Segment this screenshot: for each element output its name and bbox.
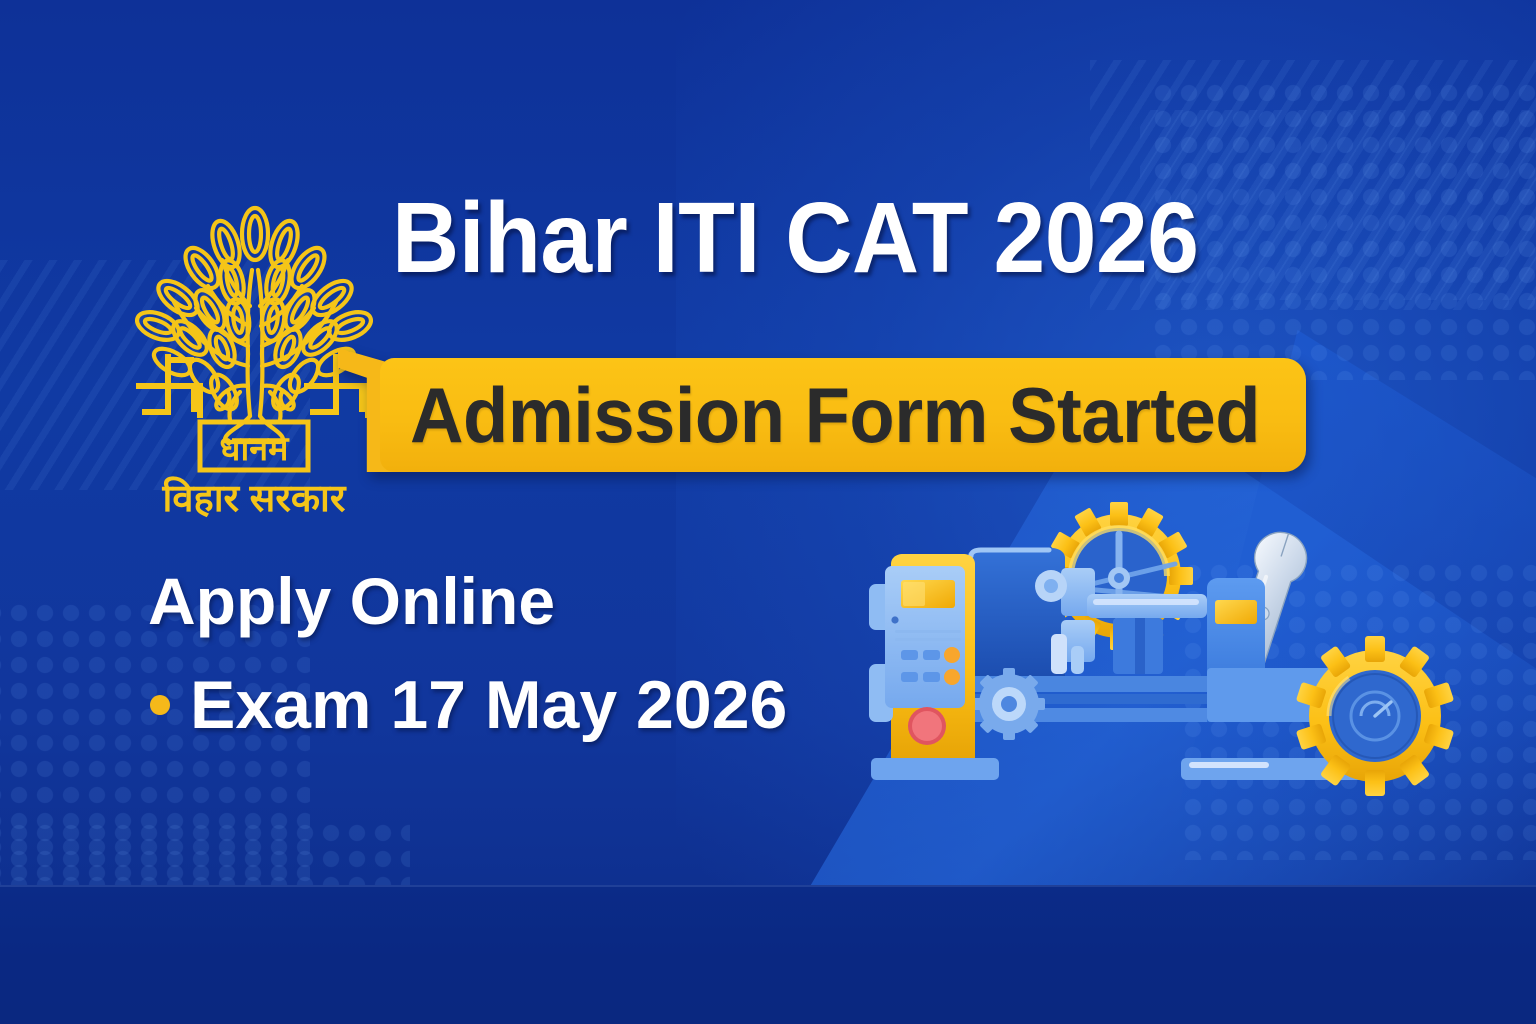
ribbon-label: Admission Form Started [410, 376, 1260, 454]
emblem-boxed-label: धानम [200, 422, 308, 470]
emergency-stop-button-icon [908, 707, 946, 745]
ribbon-body: Admission Form Started [380, 358, 1306, 472]
bihar-iti-cat-banner: धानम विहार सरकार Bihar ITI CAT 2026 Admi… [0, 0, 1536, 1024]
page-title: Bihar ITI CAT 2026 [392, 186, 1322, 290]
exam-date-text: Exam 17 May 2026 [190, 668, 787, 742]
bottom-band [0, 885, 1536, 1024]
exam-date-row: Exam 17 May 2026 [150, 668, 787, 742]
industrial-machine-illustration [855, 468, 1475, 818]
ribbon-banner: Admission Form Started [338, 348, 1306, 472]
apply-online-text: Apply Online [148, 565, 555, 637]
bullet-dot-icon [150, 695, 170, 715]
emblem-caption: विहार सरकार [162, 476, 347, 520]
svg-text:धानम: धानम [220, 430, 291, 468]
gear-small-icon [973, 668, 1045, 740]
